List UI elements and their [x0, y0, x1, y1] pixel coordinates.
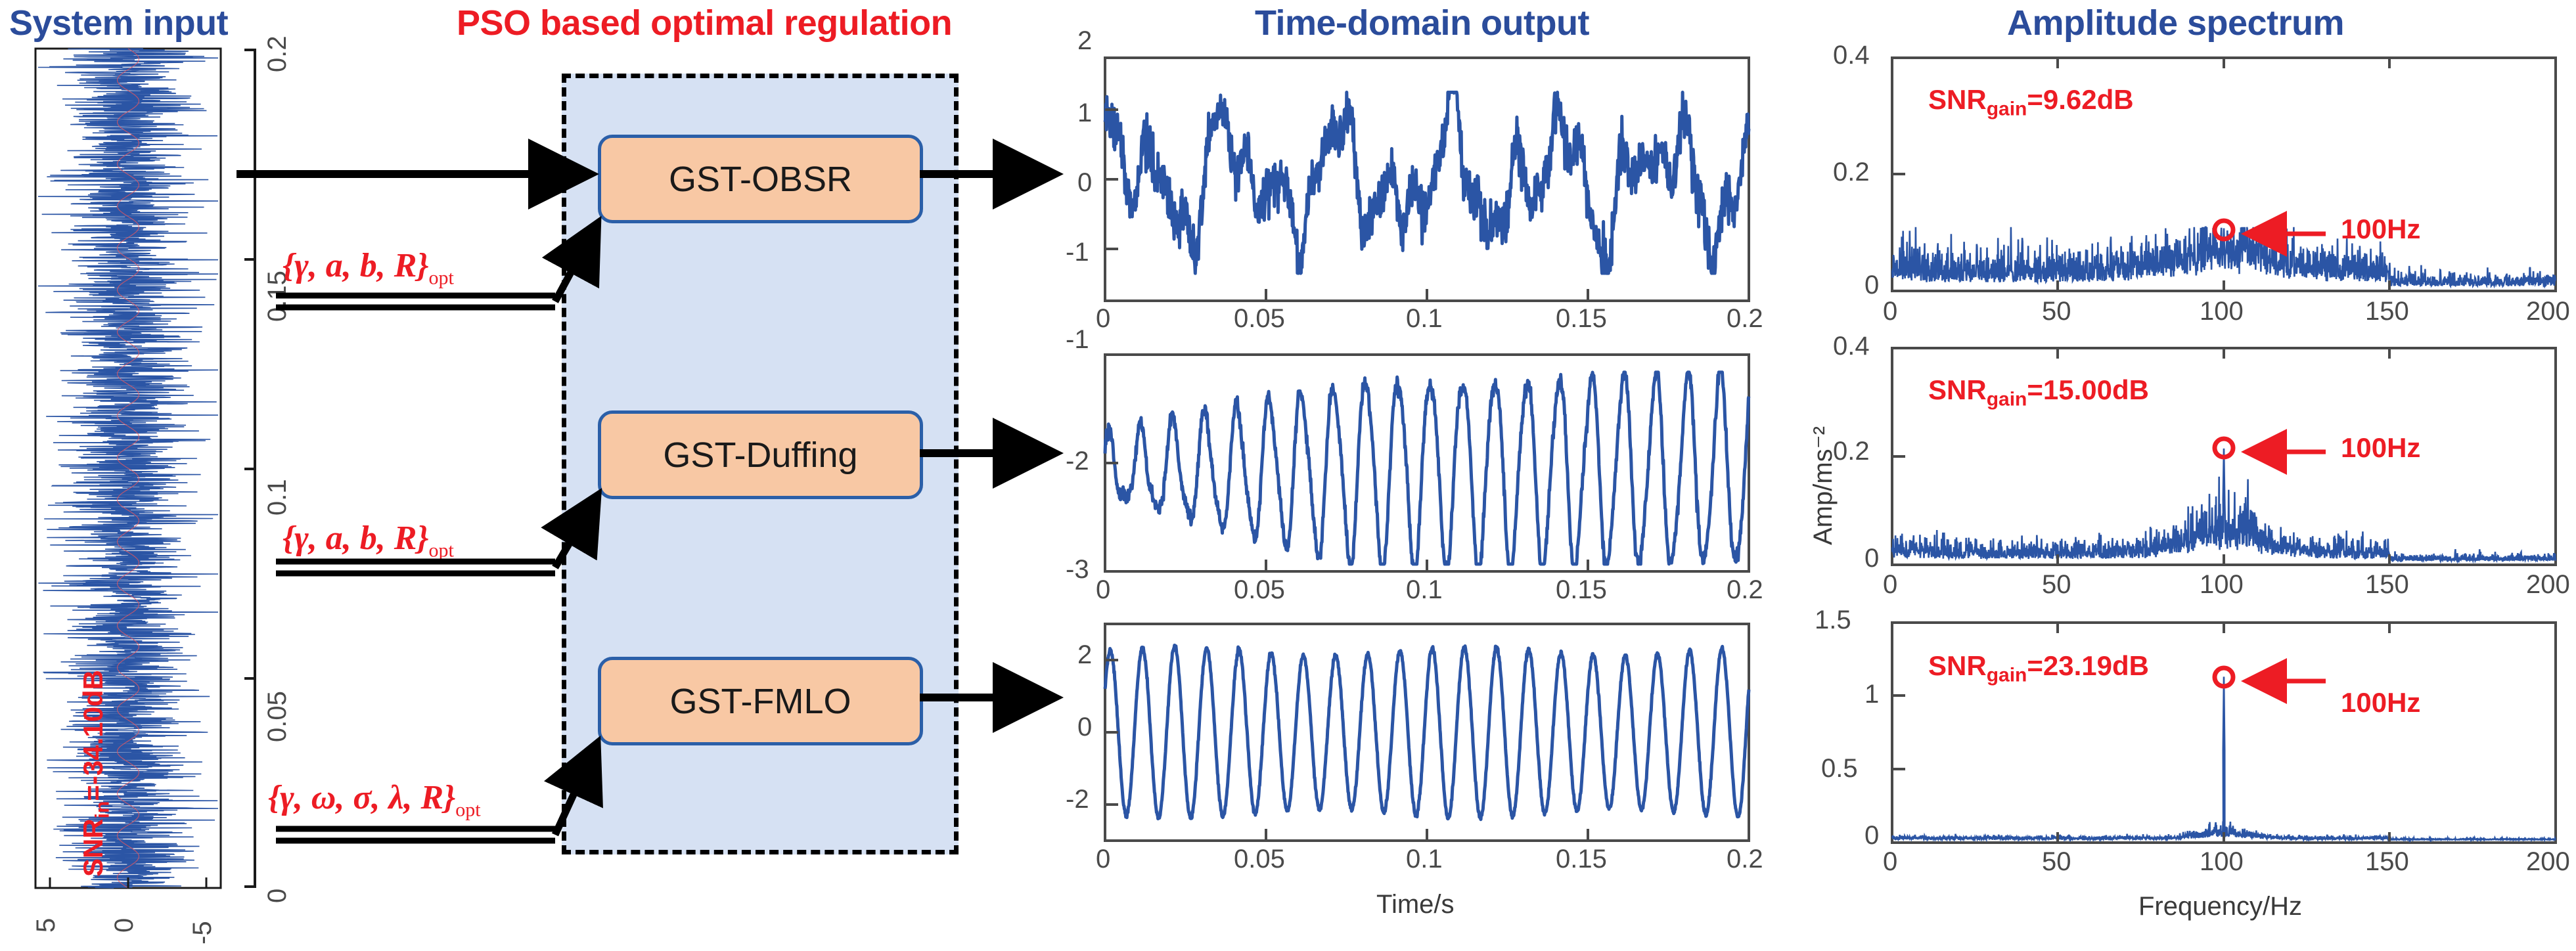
spectrum-ylabel: Amp/ms⁻²: [1808, 426, 1838, 545]
td2-ytick-neg1: -1: [1066, 325, 1089, 355]
td1-xtick-0p05: 0.05: [1234, 304, 1285, 334]
sp1-snr-name: SNR: [1928, 84, 1987, 115]
sp3-snr-value: =23.19dB: [2027, 650, 2149, 681]
td1-xtick-0p1: 0.1: [1406, 304, 1443, 334]
sp1-ytick-0: 0: [1864, 271, 1879, 300]
sp2-xtick-200: 200: [2526, 570, 2570, 600]
sp3-snr-sub: gain: [1987, 664, 2027, 686]
sp3-xtick-150: 150: [2365, 847, 2409, 877]
td2-xtick-0p15: 0.15: [1556, 575, 1607, 605]
sp2-snr-sub: gain: [1987, 388, 2027, 410]
td1-ytick-2: 2: [1077, 26, 1092, 56]
sp2-peak-label: 100Hz: [2341, 432, 2420, 464]
td2-xtick-0: 0: [1096, 575, 1110, 605]
time-domain-panel-2: [1105, 355, 1749, 571]
sp3-ytick-1: 1: [1864, 680, 1879, 709]
td3-xtick-0p2: 0.2: [1727, 845, 1763, 874]
sp3-snr-gain-label: SNRgain=23.19dB: [1928, 650, 2149, 686]
sp2-xtick-150: 150: [2365, 570, 2409, 600]
sp2-snr-value: =15.00dB: [2027, 374, 2149, 405]
td3-xtick-0: 0: [1096, 845, 1110, 874]
sp3-xtick-100: 100: [2200, 847, 2244, 877]
sp2-xtick-50: 50: [2042, 570, 2071, 600]
sp2-snr-gain-label: SNRgain=15.00dB: [1928, 374, 2149, 410]
sp3-xtick-200: 200: [2526, 847, 2570, 877]
td2-xtick-0p1: 0.1: [1406, 575, 1443, 605]
td3-ytick-2: 2: [1077, 640, 1092, 670]
sp1-peak-label: 100Hz: [2341, 213, 2420, 245]
sp1-snr-gain-label: SNRgain=9.62dB: [1928, 84, 2134, 120]
sp2-ytick-0p4: 0.4: [1833, 332, 1870, 361]
td1-ytick-1: 1: [1077, 99, 1092, 128]
time-domain-panel-1: [1105, 58, 1749, 301]
td3-xtick-0p15: 0.15: [1556, 845, 1607, 874]
sp1-ytick-0p2: 0.2: [1833, 158, 1870, 187]
sp1-xtick-50: 50: [2042, 297, 2071, 326]
spectrum-xlabel: Frequency/Hz: [2138, 892, 2302, 921]
sp1-snr-value: =9.62dB: [2027, 84, 2133, 115]
td1-xtick-0: 0: [1096, 304, 1110, 334]
sp3-xtick-50: 50: [2042, 847, 2071, 877]
sp2-xtick-0: 0: [1883, 570, 1897, 600]
time-domain-panel-3: [1105, 624, 1749, 841]
sp1-snr-sub: gain: [1987, 98, 2027, 120]
sp2-snr-name: SNR: [1928, 374, 1987, 405]
sp1-xtick-100: 100: [2200, 297, 2244, 326]
td3-ytick-neg2: -2: [1066, 785, 1089, 814]
sp1-xtick-0: 0: [1883, 297, 1897, 326]
td1-xtick-0p15: 0.15: [1556, 304, 1607, 334]
td3-xtick-0p05: 0.05: [1234, 845, 1285, 874]
sp2-ytick-0: 0: [1864, 544, 1879, 573]
sp1-xtick-200: 200: [2526, 297, 2570, 326]
td1-ytick-0: 0: [1077, 168, 1092, 198]
sp2-ytick-0p2: 0.2: [1833, 437, 1870, 466]
time-domain-xlabel: Time/s: [1376, 890, 1455, 919]
td1-xtick-0p2: 0.2: [1727, 304, 1763, 334]
td2-ytick-neg2: -2: [1066, 447, 1089, 476]
sp1-xtick-150: 150: [2365, 297, 2409, 326]
sp2-xtick-100: 100: [2200, 570, 2244, 600]
sp3-ytick-1p5: 1.5: [1815, 606, 1851, 635]
sp3-ytick-0: 0: [1864, 821, 1879, 851]
sp3-snr-name: SNR: [1928, 650, 1987, 681]
sp1-ytick-0p4: 0.4: [1833, 41, 1870, 70]
td2-xtick-0p05: 0.05: [1234, 575, 1285, 605]
td2-xtick-0p2: 0.2: [1727, 575, 1763, 605]
td2-ytick-neg3: -3: [1066, 555, 1089, 585]
sp3-ytick-0p5: 0.5: [1821, 754, 1858, 784]
td3-ytick-0: 0: [1077, 713, 1092, 742]
sp3-xtick-0: 0: [1883, 847, 1897, 877]
td3-xtick-0p1: 0.1: [1406, 845, 1443, 874]
sp3-peak-label: 100Hz: [2341, 687, 2420, 719]
td1-ytick-neg1: -1: [1066, 238, 1089, 267]
